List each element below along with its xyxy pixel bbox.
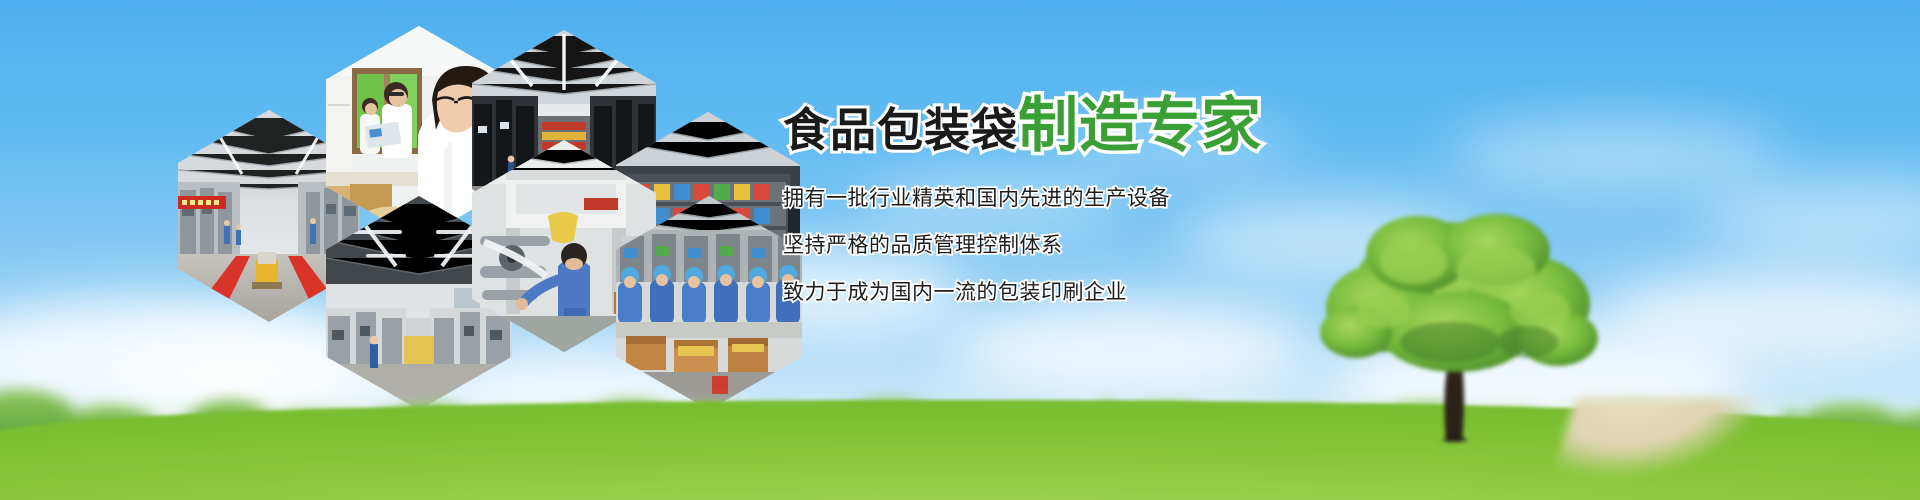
- hero-banner: 食品包装袋制造专家 拥有一批行业精英和国内先进的生产设备 坚持严格的品质管理控制…: [0, 0, 1920, 500]
- subtitle-line-1: 拥有一批行业精英和国内先进的生产设备: [783, 188, 1483, 209]
- subtitle-list: 拥有一批行业精英和国内先进的生产设备 坚持严格的品质管理控制体系 致力于成为国内…: [783, 188, 1483, 303]
- subtitle-line-3: 致力于成为国内一流的包装印刷企业: [783, 282, 1483, 303]
- subtitle-line-2: 坚持严格的品质管理控制体系: [783, 235, 1483, 256]
- headline-text-block: 食品包装袋制造专家 拥有一批行业精英和国内先进的生产设备 坚持严格的品质管理控制…: [783, 96, 1483, 329]
- headline-dark-part: 食品包装袋: [783, 103, 1018, 157]
- headline-green-part: 制造专家: [1018, 91, 1262, 161]
- main-headline: 食品包装袋制造专家: [783, 96, 1483, 156]
